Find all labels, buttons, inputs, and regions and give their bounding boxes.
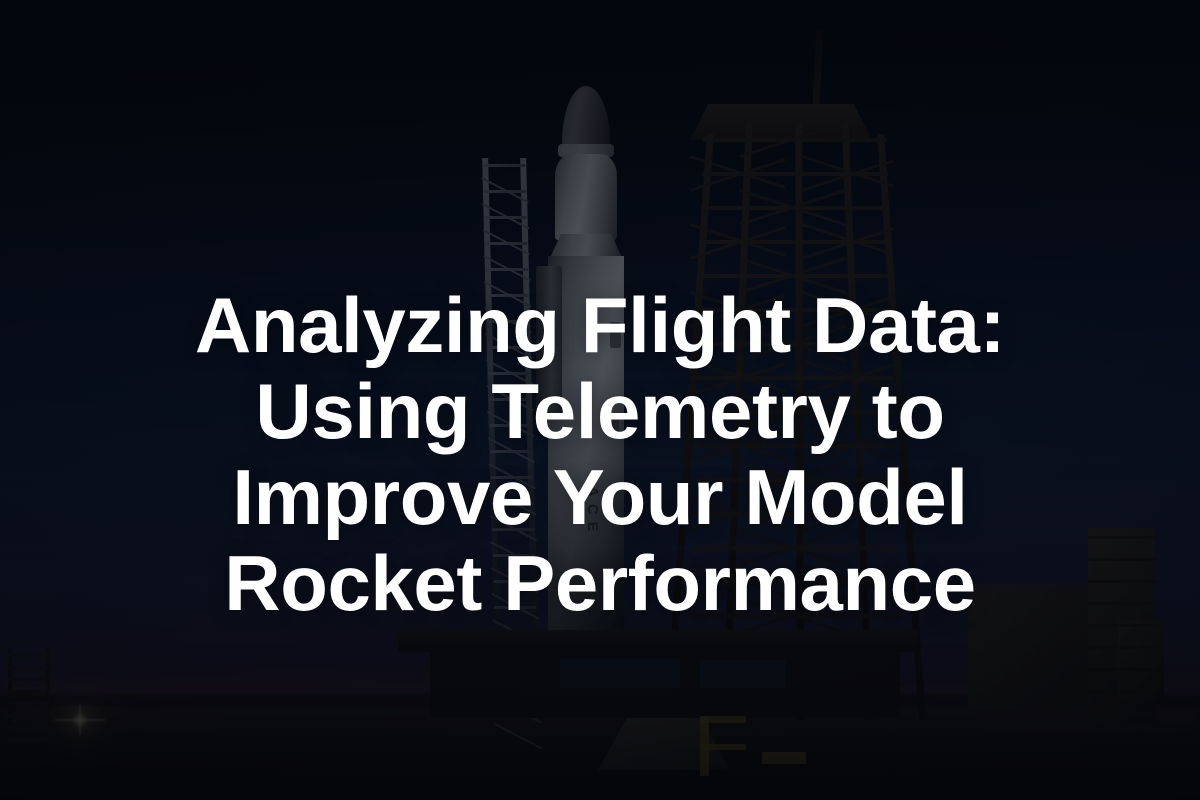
hero-banner: ACE Analyzing Flight Data: Using Telemet… xyxy=(0,0,1200,800)
headline-line-3: Improve Your Model xyxy=(118,454,1082,540)
headline-line-4: Rocket Performance xyxy=(118,540,1082,626)
page-title: Analyzing Flight Data: Using Telemetry t… xyxy=(0,282,1200,626)
headline-line-1: Analyzing Flight Data: xyxy=(118,282,1082,368)
headline-line-2: Using Telemetry to xyxy=(118,368,1082,454)
